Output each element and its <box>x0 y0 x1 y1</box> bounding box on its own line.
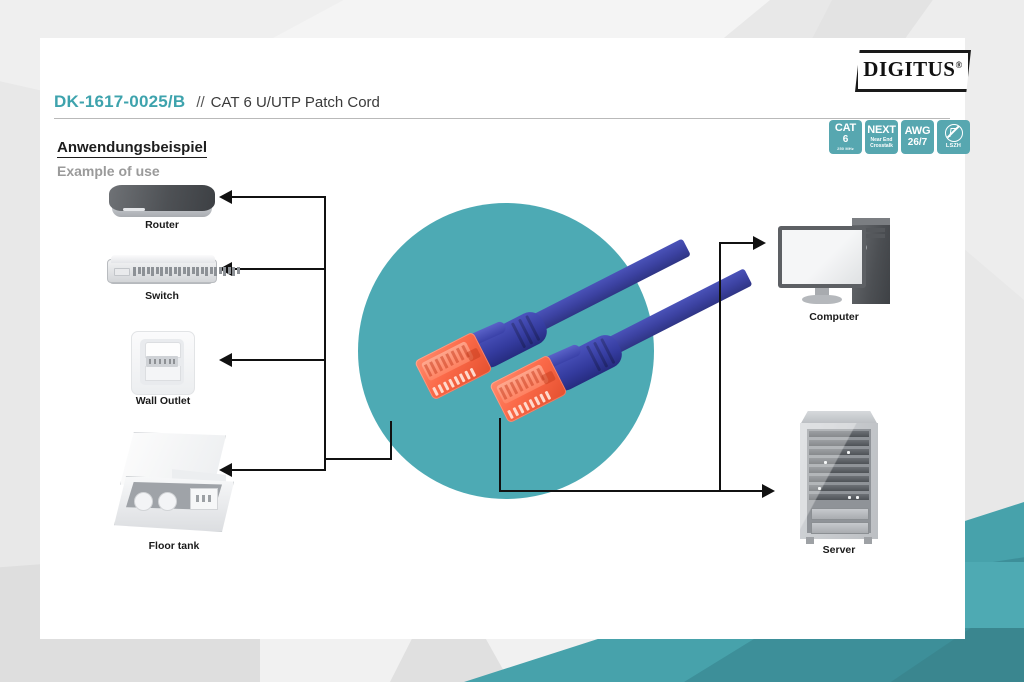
digitus-logo: DIGITUS® <box>855 50 971 92</box>
logo-text: DIGITUS <box>863 57 955 81</box>
floor-tank-data-module <box>190 488 218 510</box>
device-floor-tank <box>114 432 234 534</box>
monitor-stand-foot <box>802 295 842 304</box>
next-badge: NEXT Near End Crosstalk <box>865 120 898 154</box>
section-title-de: Anwendungsbeispiel <box>57 139 207 158</box>
arrow-router <box>219 190 232 204</box>
leader-front-connector-horizontal <box>499 490 721 492</box>
next-badge-sub: Near End Crosstalk <box>870 137 893 150</box>
header-divider <box>54 118 950 119</box>
datasheet-page: DIGITUS® DK-1617-0025/B // CAT 6 U/UTP P… <box>0 0 1024 682</box>
label-wall-outlet: Wall Outlet <box>113 395 213 407</box>
computer-tower-top <box>852 218 890 225</box>
left-branch-wall-outlet <box>232 359 326 361</box>
section-heading: Anwendungsbeispiel Example of use <box>57 139 207 179</box>
left-branch-router <box>232 196 326 198</box>
section-title-en: Example of use <box>57 163 207 179</box>
arrow-server <box>762 484 775 498</box>
next-badge-line1: NEXT <box>867 125 896 136</box>
lszh-badge: LSZH <box>937 120 970 154</box>
switch-ports <box>133 267 240 276</box>
label-switch: Switch <box>107 290 217 302</box>
right-branch-server <box>719 490 764 492</box>
server-foot <box>806 537 814 544</box>
device-computer <box>778 226 890 306</box>
awg-badge: AWG 26/7 <box>901 120 934 154</box>
label-computer: Computer <box>778 311 890 323</box>
product-description: CAT 6 U/UTP Patch Cord <box>211 94 380 111</box>
switch-top <box>111 255 215 263</box>
cat6-badge: CAT 6 250 MHz <box>829 120 862 154</box>
leader-back-connector-vertical <box>390 421 392 459</box>
leader-front-connector-vertical <box>499 418 501 491</box>
product-header: DK-1617-0025/B // CAT 6 U/UTP Patch Cord <box>54 92 950 119</box>
wall-outlet-rj45-jack <box>146 356 178 367</box>
router-led <box>123 208 145 211</box>
arrow-wall-outlet <box>219 353 232 367</box>
server-foot <box>864 537 872 544</box>
device-wall-outlet <box>131 331 193 393</box>
floor-tank-socket <box>158 492 177 511</box>
left-branch-floor-tank <box>232 469 326 471</box>
cat6-badge-line1: CAT <box>835 123 856 134</box>
leader-back-connector-horizontal <box>324 458 392 460</box>
registered-mark-icon: ® <box>955 60 962 70</box>
header-separator: // <box>196 94 204 111</box>
device-router <box>109 185 215 219</box>
wall-outlet-lower <box>145 366 181 381</box>
label-floor-tank: Floor tank <box>114 540 234 552</box>
label-router: Router <box>109 219 215 231</box>
lszh-badge-sub: LSZH <box>946 144 961 150</box>
floor-tank-socket <box>134 492 153 511</box>
left-branch-switch <box>232 268 326 270</box>
left-bus-line <box>324 196 326 470</box>
no-smoke-icon <box>945 124 963 142</box>
feature-badges: CAT 6 250 MHz NEXT Near End Crosstalk AW… <box>829 120 970 154</box>
arrow-computer <box>753 236 766 250</box>
switch-badge <box>114 268 130 276</box>
cat6-badge-line2: 6 <box>843 135 849 145</box>
label-server: Server <box>800 544 878 556</box>
server-highlight <box>800 423 878 539</box>
monitor-screen <box>782 230 862 284</box>
product-sku: DK-1617-0025/B <box>54 92 185 112</box>
cat6-badge-sub: 250 MHz <box>837 147 854 151</box>
logo-wordmark: DIGITUS® <box>855 57 971 82</box>
right-bus-line <box>719 242 721 492</box>
device-switch <box>107 255 217 287</box>
right-branch-computer <box>719 242 755 244</box>
awg-badge-line2: 26/7 <box>908 138 927 148</box>
device-server <box>800 411 878 545</box>
awg-badge-line1: AWG <box>905 126 931 137</box>
